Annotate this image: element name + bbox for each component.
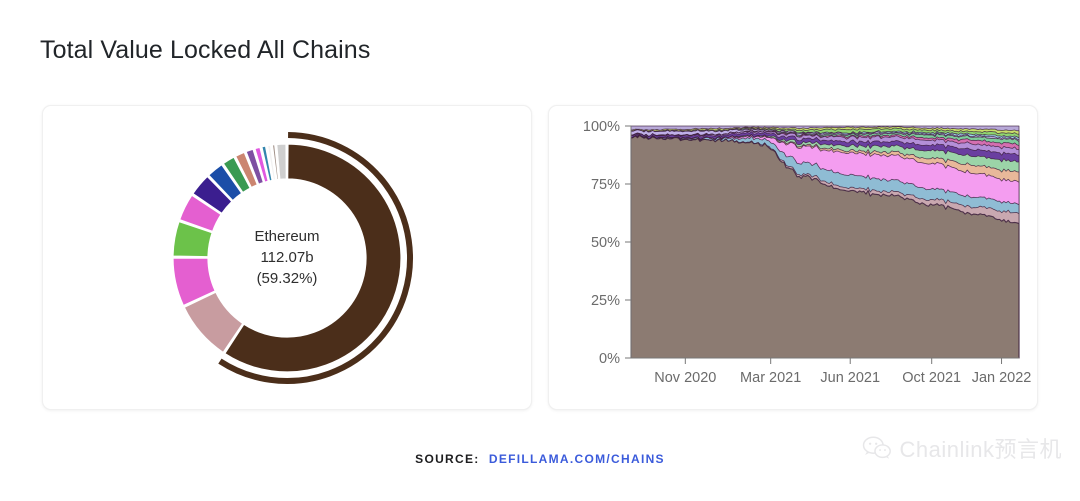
donut-svg[interactable] <box>147 118 427 398</box>
area-chart-card: 0%25%50%75%100%Nov 2020Mar 2021Jun 2021O… <box>548 105 1038 410</box>
screenshot-root: Total Value Locked All Chains Ethereum 1… <box>0 0 1080 501</box>
donut-chart-card: Ethereum 112.07b (59.32%) <box>42 105 532 410</box>
source-label: SOURCE: <box>415 452 479 466</box>
source-link[interactable]: DEFILLAMA.COM/CHAINS <box>489 452 665 466</box>
donut-chart[interactable]: Ethereum 112.07b (59.32%) <box>43 106 531 409</box>
x-axis-tick-label: Oct 2021 <box>902 370 961 386</box>
x-axis-tick-label: Jun 2021 <box>820 370 880 386</box>
area-chart-svg[interactable]: 0%25%50%75%100%Nov 2020Mar 2021Jun 2021O… <box>549 106 1039 411</box>
watermark-text: Chainlink预言机 <box>900 432 1063 464</box>
x-axis-tick-label: Jan 2022 <box>972 370 1032 386</box>
page-title: Total Value Locked All Chains <box>40 36 370 65</box>
watermark: Chainlink预言机 <box>862 432 1063 464</box>
x-axis-tick-label: Mar 2021 <box>740 370 801 386</box>
stacked-area-chart[interactable]: 0%25%50%75%100%Nov 2020Mar 2021Jun 2021O… <box>549 106 1037 409</box>
y-axis-tick-label: 0% <box>599 351 620 367</box>
y-axis-tick-label: 75% <box>591 177 620 193</box>
y-axis-tick-label: 100% <box>583 119 620 135</box>
y-axis-tick-label: 25% <box>591 293 620 309</box>
x-axis-tick-label: Nov 2020 <box>654 370 716 386</box>
wechat-icon <box>862 435 892 461</box>
y-axis-tick-label: 50% <box>591 235 620 251</box>
